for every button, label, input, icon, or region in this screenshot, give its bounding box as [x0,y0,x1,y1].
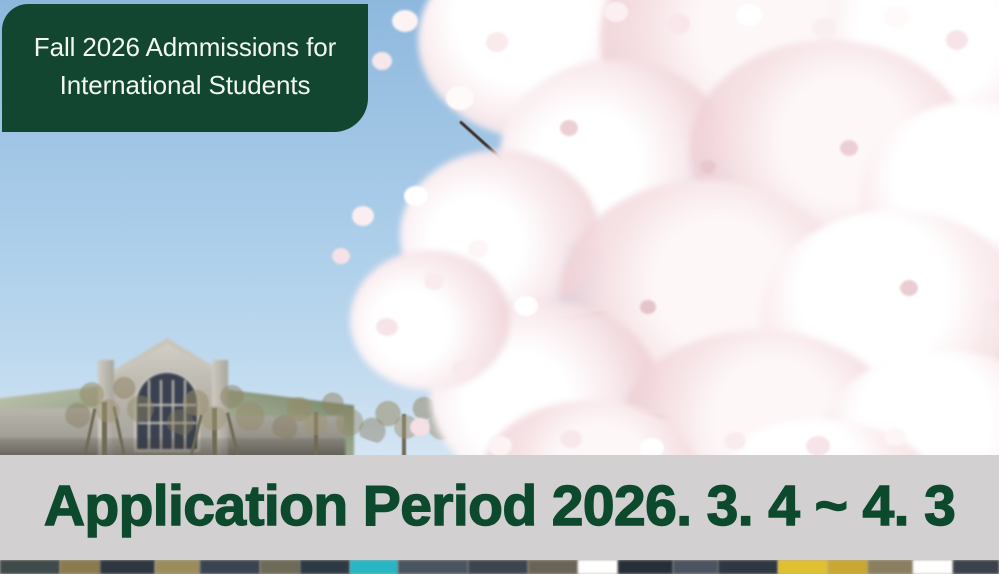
bottom-photo-strip [0,560,999,574]
admissions-poster: Fall 2026 Admmissions for International … [0,0,999,574]
badge-line-1: Fall 2026 Admmissions for [34,28,336,66]
admissions-badge: Fall 2026 Admmissions for International … [2,4,368,132]
application-period-banner: Application Period 2026. 3. 4 ~ 4. 3 [0,455,999,560]
application-period-title: Application Period 2026. 3. 4 ~ 4. 3 [44,478,955,535]
badge-line-2: International Students [60,66,311,104]
bare-tree-far-right [342,392,472,464]
